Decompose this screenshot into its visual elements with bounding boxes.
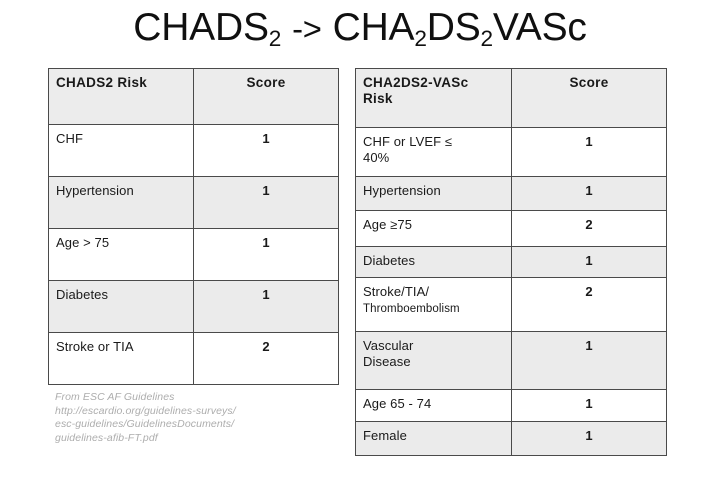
risk-cell-chf: CHF: [49, 125, 194, 177]
title-chads-subscript: 2: [269, 26, 281, 51]
risk-label: CHF: [49, 125, 193, 147]
risk-label: Stroke or TIA: [49, 333, 193, 355]
score-cell-hypertension: 1: [512, 177, 667, 211]
risk-cell-hypertension: Hypertension: [356, 177, 512, 211]
table-row: Female 1: [356, 422, 667, 456]
cha2ds2-vasc-risk-table: CHA2DS2-VASc Risk Score CHF or LVEF ≤ 40…: [355, 68, 667, 456]
column-header-risk: CHADS2 Risk: [49, 69, 194, 125]
risk-label-line1: CHF or LVEF ≤: [363, 134, 452, 149]
column-header-score: Score: [194, 69, 339, 125]
table-row: Age > 75 1: [49, 229, 339, 281]
score-cell-chf-or-lvef: 1: [512, 128, 667, 177]
score-cell-diabetes: 1: [194, 281, 339, 333]
risk-label-line1: Stroke/TIA/: [363, 284, 429, 299]
column-header-risk-label-line2: Risk: [363, 91, 393, 106]
score-value: 1: [512, 128, 666, 150]
risk-label-line1: Age ≥75: [356, 211, 511, 233]
score-cell-age-over-75: 1: [194, 229, 339, 281]
table-row: CHF 1: [49, 125, 339, 177]
score-cell-chf: 1: [194, 125, 339, 177]
risk-label-line1: Vascular: [363, 338, 413, 353]
score-cell-stroke-or-tia: 2: [194, 333, 339, 385]
title-vasc-suffix: VASc: [493, 6, 587, 49]
score-value: 1: [512, 177, 666, 199]
risk-label-line2: 40%: [363, 150, 389, 165]
score-value: 2: [512, 211, 666, 233]
column-header-score-label: Score: [512, 69, 666, 91]
title-arrow: ->: [281, 10, 332, 47]
risk-label-line1: Hypertension: [356, 177, 511, 199]
risk-label-line2: Disease: [363, 354, 411, 369]
chads2-risk-table: CHADS2 Risk Score CHF 1 Hypertension: [48, 68, 339, 385]
score-value: 1: [512, 422, 666, 444]
column-header-risk-label: CHADS2 Risk: [49, 69, 193, 91]
score-value: 1: [512, 247, 666, 269]
risk-label-line2: Thromboembolism: [363, 303, 460, 315]
risk-cell-stroke-or-tia: Stroke or TIA: [49, 333, 194, 385]
table-header-row: CHA2DS2-VASc Risk Score: [356, 69, 667, 128]
risk-label: Age > 75: [49, 229, 193, 251]
source-citation: From ESC AF Guidelines http://escardio.o…: [55, 391, 315, 445]
slide-canvas: CHADS2 -> CHA2DS2VASc CHADS2 Risk Score …: [0, 0, 720, 482]
risk-cell-chf-or-lvef: CHF or LVEF ≤ 40%: [356, 128, 512, 177]
score-value: 1: [512, 390, 666, 412]
risk-cell-age-75-or-older: Age ≥75: [356, 211, 512, 247]
column-header-score: Score: [512, 69, 667, 128]
score-cell-age-65-74: 1: [512, 390, 667, 422]
risk-cell-vascular-disease: Vascular Disease: [356, 332, 512, 390]
title-vasc-ds: DS: [427, 6, 481, 49]
risk-label: Hypertension: [49, 177, 193, 199]
score-value: 1: [194, 125, 338, 147]
column-header-risk-label-line1: CHA2DS2-VASc: [363, 75, 468, 90]
risk-label: Diabetes: [49, 281, 193, 303]
table-row: Stroke or TIA 2: [49, 333, 339, 385]
column-header-risk: CHA2DS2-VASc Risk: [356, 69, 512, 128]
citation-line-3: esc-guidelines/GuidelinesDocuments/: [55, 418, 315, 432]
risk-label-line1: Female: [356, 422, 511, 444]
table-row: Hypertension 1: [356, 177, 667, 211]
title-vasc-subscript-2: 2: [481, 26, 493, 51]
citation-line-1: From ESC AF Guidelines: [55, 391, 315, 405]
risk-label-line1: Diabetes: [356, 247, 511, 269]
table-header-row: CHADS2 Risk Score: [49, 69, 339, 125]
risk-cell-hypertension: Hypertension: [49, 177, 194, 229]
score-value: 2: [194, 333, 338, 355]
risk-cell-age-65-74: Age 65 - 74: [356, 390, 512, 422]
risk-cell-female: Female: [356, 422, 512, 456]
table-row: Vascular Disease 1: [356, 332, 667, 390]
score-value: 1: [194, 281, 338, 303]
score-cell-stroke-tia-thromboembolism: 2: [512, 278, 667, 332]
table-row: Age 65 - 74 1: [356, 390, 667, 422]
table-row: CHF or LVEF ≤ 40% 1: [356, 128, 667, 177]
risk-cell-diabetes: Diabetes: [356, 247, 512, 278]
title-vasc-subscript-1: 2: [414, 26, 426, 51]
score-cell-diabetes: 1: [512, 247, 667, 278]
score-value: 2: [512, 278, 666, 300]
table-row: Hypertension 1: [49, 177, 339, 229]
risk-cell-stroke-tia-thromboembolism: Stroke/TIA/ Thromboembolism: [356, 278, 512, 332]
table-row: Age ≥75 2: [356, 211, 667, 247]
table-row: Diabetes 1: [49, 281, 339, 333]
column-header-score-label: Score: [194, 69, 338, 91]
score-value: 1: [194, 229, 338, 251]
score-cell-hypertension: 1: [194, 177, 339, 229]
risk-cell-age-over-75: Age > 75: [49, 229, 194, 281]
citation-line-4: guidelines-afib-FT.pdf: [55, 432, 315, 446]
citation-line-2: http://escardio.org/guidelines-surveys/: [55, 405, 315, 419]
risk-cell-diabetes: Diabetes: [49, 281, 194, 333]
score-cell-female: 1: [512, 422, 667, 456]
table-row: Stroke/TIA/ Thromboembolism 2: [356, 278, 667, 332]
risk-label-line1: Age 65 - 74: [356, 390, 511, 412]
page-title: CHADS2 -> CHA2DS2VASc: [0, 6, 720, 50]
score-value: 1: [194, 177, 338, 199]
table-row: Diabetes 1: [356, 247, 667, 278]
title-chads-base: CHADS: [133, 6, 269, 49]
score-cell-age-75-or-older: 2: [512, 211, 667, 247]
title-vasc-cha: CHA: [333, 6, 415, 49]
score-cell-vascular-disease: 1: [512, 332, 667, 390]
score-value: 1: [512, 332, 666, 354]
